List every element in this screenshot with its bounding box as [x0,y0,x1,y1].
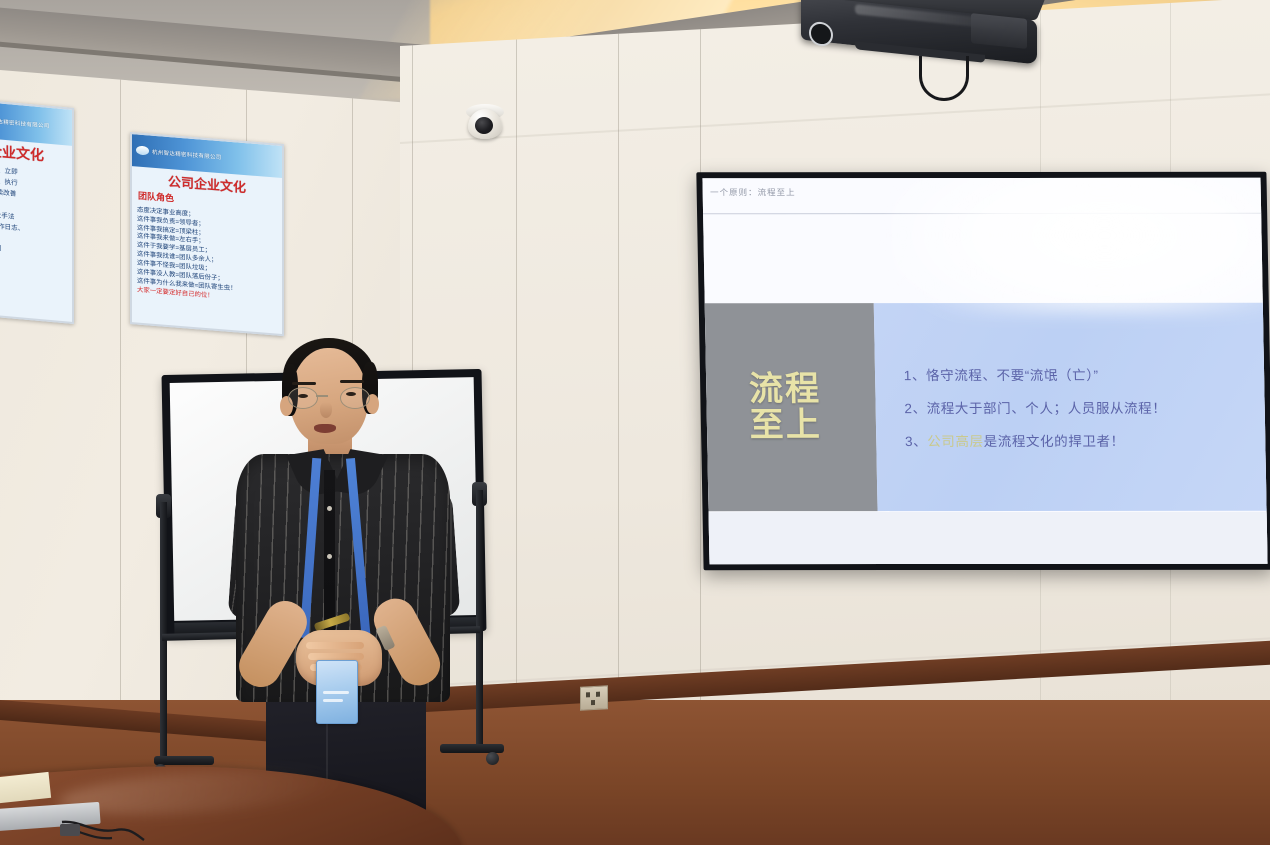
poster-body: 态度决定事业高度； 这件事我负责=领导者； 这件事我搞定=顶梁柱； 这件事我来做… [132,203,282,305]
slide-bullet-3-faded: 公司高层 [927,434,984,449]
presenter [228,330,458,845]
ceiling-projector [795,0,1045,70]
slide-bullets-panel: 1、恪守流程、不要“流氓（亡）” 2、流程大于部门、个人；人员服从流程！ 3、公… [873,303,1267,512]
poster-corporate-culture-right: 杭州智达精密科技有限公司 公司企业文化 团队角色 态度决定事业高度； 这件事我负… [130,132,284,336]
slide-bullet-3-number: 3、 [905,434,927,449]
presenter-eye-left [298,394,308,398]
slide-bullet-3: 3、公司高层是流程文化的捍卫者！ [905,430,1268,450]
presenter-nose [320,402,332,418]
screen-surface: 一个原则： 流程至上 流程 至上 1、恪守流程、不要“流氓（亡）” 2、流程大于… [702,178,1267,564]
slide-bullet-2: 2、流程大于部门、个人；人员服从流程！ [904,397,1267,417]
slide-title-panel: 流程 至上 [702,303,877,512]
presentation-room-photo: 杭州智达精密科技有限公司 企业文化 ：快速反应、立即 ：服从指挥、执行 ：PDC… [0,0,1270,845]
poster-company-name: 杭州智达精密科技有限公司 [0,116,50,130]
company-logo-icon [136,146,149,156]
presenter-id-badge [316,660,358,724]
poster-company-name: 杭州智达精密科技有限公司 [152,148,222,161]
slide-content: 流程 至上 1、恪守流程、不要“流氓（亡）” 2、流程大于部门、个人；人员服从流… [702,303,1267,512]
poster-body: ：快速反应、立即 ：服从指挥、执行 ：PDCA持续改善 （环） 品管QC七大手法… [0,161,72,260]
slide-header-prefix: 一个原则： [710,186,758,198]
presenter-shirt-button [327,506,332,511]
slide-bullet-1: 1、恪守流程、不要“流氓（亡）” [904,364,1268,384]
slide-header: 一个原则： 流程至上 [702,178,1267,215]
poster-header-band: 杭州智达精密科技有限公司 [0,100,72,146]
slide-footer-band [702,511,1267,564]
whiteboard-caster-right [486,752,499,765]
slide-header-suffix: 流程至上 [757,186,795,198]
presenter-shirt-button [327,554,332,559]
poster-corporate-culture-left: 杭州智达精密科技有限公司 企业文化 ：快速反应、立即 ：服从指挥、执行 ：PDC… [0,98,74,324]
presenter-eye-right [346,392,356,396]
projector-vent [971,13,1027,49]
slide: 一个原则： 流程至上 流程 至上 1、恪守流程、不要“流氓（亡）” 2、流程大于… [702,178,1267,564]
presenter-brow-left [292,382,316,385]
wall-power-outlet [580,685,608,710]
presenter-mouth [314,424,336,433]
dome-security-camera [466,104,504,146]
slide-bullet-3-rest: 是流程文化的捍卫者！ [984,434,1125,449]
camera-lens-icon [475,117,493,134]
whiteboard-post-right [476,490,483,752]
presenter-brow-right [340,380,364,383]
slide-title-line1: 流程 [749,371,822,407]
projection-screen[interactable]: 一个原则： 流程至上 流程 至上 1、恪守流程、不要“流氓（亡）” 2、流程大于… [696,172,1270,570]
slide-title-line2: 至上 [749,407,822,443]
cables [60,818,146,844]
